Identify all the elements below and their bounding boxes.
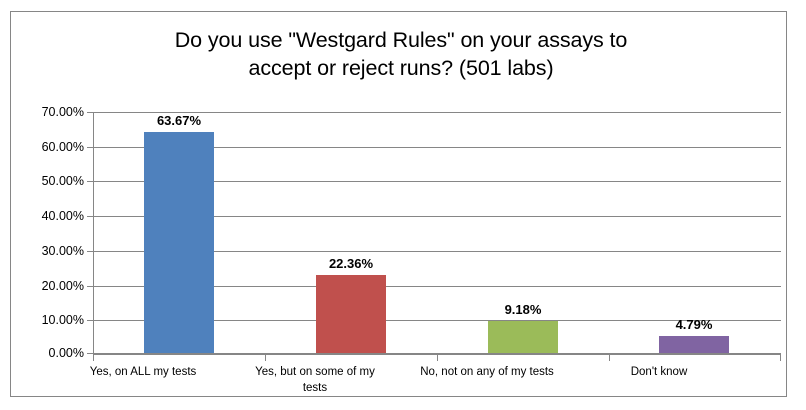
category-label-line: No, not on any of my tests	[407, 364, 567, 380]
plot-area: 70.00% 60.00% 50.00% 40.00% 30.00% 20.00…	[93, 112, 781, 355]
y-axis-label-0: 0.00%	[49, 346, 84, 360]
bar-value-label-1: 22.36%	[329, 256, 373, 271]
y-axis-label-30: 30.00%	[42, 244, 84, 258]
category-label-line: Don't know	[584, 364, 734, 380]
bar-no-not-on-any-of-my-tests[interactable]: 9.18%	[488, 321, 558, 353]
category-label-line: Yes, on ALL my tests	[68, 364, 218, 380]
y-axis-label-50: 50.00%	[42, 174, 84, 188]
chart-title-line-1: Do you use "Westgard Rules" on your assa…	[51, 26, 751, 54]
category-label-dont-know: Don't know	[584, 364, 734, 380]
chart-frame: Do you use "Westgard Rules" on your assa…	[10, 11, 787, 397]
bar-yes-all-my-tests[interactable]: 63.67%	[144, 132, 214, 353]
category-label-yes-all: Yes, on ALL my tests	[68, 364, 218, 380]
category-label-line: Yes, but on some of my	[240, 364, 390, 380]
chart-title-line-2: accept or reject runs? (501 labs)	[51, 54, 751, 82]
y-axis-label-40: 40.00%	[42, 209, 84, 223]
y-axis-label-70: 70.00%	[42, 105, 84, 119]
bar-dont-know[interactable]: 4.79%	[659, 336, 729, 353]
category-tick-1	[265, 355, 266, 361]
chart-screenshot: Do you use "Westgard Rules" on your assa…	[0, 0, 806, 410]
category-tick-3	[609, 355, 610, 361]
y-axis-label-60: 60.00%	[42, 140, 84, 154]
y-axis-label-10: 10.00%	[42, 313, 84, 327]
y-axis-line	[93, 112, 94, 355]
category-label-line: tests	[240, 380, 390, 396]
bar-value-label-0: 63.67%	[157, 113, 201, 128]
bar-value-label-2: 9.18%	[505, 302, 542, 317]
category-tick-0	[93, 355, 94, 361]
category-label-yes-some: Yes, but on some of my tests	[240, 364, 390, 397]
bar-value-label-3: 4.79%	[676, 317, 713, 332]
category-tick-2	[437, 355, 438, 361]
bar-yes-some-of-my-tests[interactable]: 22.36%	[316, 275, 386, 353]
category-label-no-not-any: No, not on any of my tests	[407, 364, 567, 380]
y-axis-label-20: 20.00%	[42, 279, 84, 293]
chart-title: Do you use "Westgard Rules" on your assa…	[51, 26, 751, 83]
category-tick-4	[780, 355, 781, 361]
